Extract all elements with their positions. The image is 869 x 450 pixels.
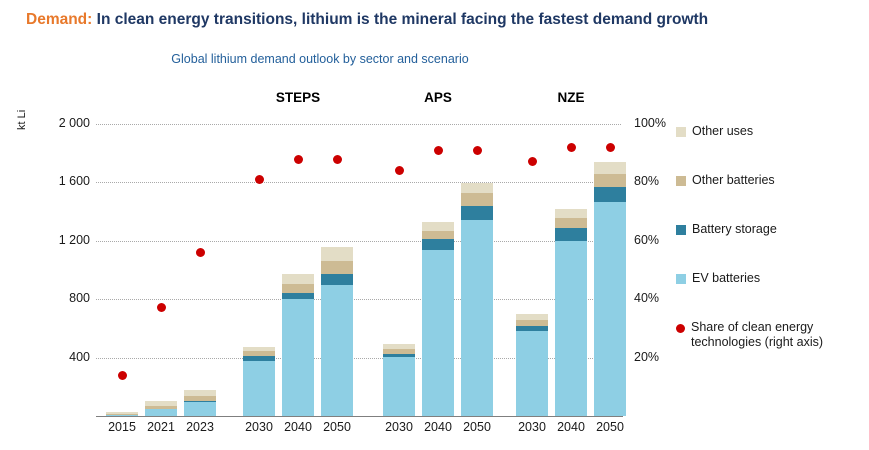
- x-axis-tick-label: 2015: [100, 420, 144, 434]
- x-axis-line: [96, 416, 623, 417]
- x-axis-tick-label: 2030: [237, 420, 281, 434]
- x-axis-tick-label: 2040: [416, 420, 460, 434]
- bar-segment-ev-batteries: [184, 402, 216, 416]
- bar-segment-other-uses: [321, 247, 353, 261]
- legend-item[interactable]: Other uses: [676, 124, 866, 139]
- bar-segment-other-uses: [461, 183, 493, 193]
- gridline: [96, 241, 621, 242]
- share-marker-nze-2040: [567, 143, 576, 152]
- legend-label: Battery storage: [692, 222, 777, 237]
- share-marker-steps-2050: [333, 155, 342, 164]
- legend-swatch-icon: [676, 127, 686, 137]
- legend-label: Other uses: [692, 124, 753, 139]
- chart-subtitle: Global lithium demand outlook by sector …: [0, 52, 640, 66]
- x-axis-tick-label: 2021: [139, 420, 183, 434]
- bar-segment-battery-storage: [321, 274, 353, 285]
- chart-legend: Other usesOther batteriesBattery storage…: [676, 124, 866, 384]
- bar-segment-ev-batteries: [461, 220, 493, 416]
- bar-historical-2023[interactable]: [184, 390, 216, 416]
- bar-segment-battery-storage: [461, 206, 493, 221]
- bar-segment-other-batteries: [321, 261, 353, 273]
- y-axis-tick-label: 2 000: [34, 116, 90, 130]
- scenario-label-nze: NZE: [526, 90, 616, 105]
- bar-segment-ev-batteries: [243, 361, 275, 416]
- bar-segment-other-uses: [555, 209, 587, 218]
- y-axis-left: 2 0001 6001 200800400: [26, 124, 90, 416]
- bar-segment-other-batteries: [422, 231, 454, 240]
- plot-area: [96, 124, 621, 416]
- bar-segment-other-uses: [282, 274, 314, 283]
- bar-segment-other-batteries: [555, 218, 587, 227]
- bar-segment-ev-batteries: [555, 241, 587, 416]
- legend-item[interactable]: Battery storage: [676, 222, 866, 237]
- share-marker-steps-2040: [294, 155, 303, 164]
- legend-swatch-icon: [676, 225, 686, 235]
- bar-segment-ev-batteries: [516, 331, 548, 416]
- legend-swatch-icon: [676, 274, 686, 284]
- y-axis-tick-label: 1 200: [34, 233, 90, 247]
- x-axis-tick-label: 2050: [455, 420, 499, 434]
- share-marker-nze-2030: [528, 157, 537, 166]
- scenario-label-steps: STEPS: [253, 90, 343, 105]
- bar-segment-ev-batteries: [594, 202, 626, 416]
- headline-keyword: Demand:: [26, 11, 92, 28]
- legend-label: EV batteries: [692, 271, 760, 286]
- bar-segment-battery-storage: [594, 187, 626, 202]
- bar-aps-2040[interactable]: [422, 222, 454, 416]
- bar-segment-ev-batteries: [282, 299, 314, 416]
- share-marker-aps-2050: [473, 146, 482, 155]
- bar-segment-battery-storage: [422, 239, 454, 249]
- bar-steps-2030[interactable]: [243, 347, 275, 416]
- page-title: Demand: In clean energy transitions, lit…: [26, 10, 846, 30]
- legend-label: Other batteries: [692, 173, 775, 188]
- x-axis-tick-label: 2030: [510, 420, 554, 434]
- bar-steps-2040[interactable]: [282, 274, 314, 416]
- bar-segment-other-uses: [594, 162, 626, 174]
- legend-dot-icon: [676, 324, 685, 333]
- bar-nze-2040[interactable]: [555, 209, 587, 416]
- x-axis-tick-label: 2040: [276, 420, 320, 434]
- bar-segment-other-batteries: [594, 174, 626, 187]
- y-axis-tick-label: 1 600: [34, 174, 90, 188]
- bar-segment-ev-batteries: [383, 357, 415, 416]
- x-axis-tick-label: 2023: [178, 420, 222, 434]
- y-axis-tick-label: 800: [34, 291, 90, 305]
- share-marker-historical-2023: [196, 248, 205, 257]
- bar-aps-2050[interactable]: [461, 183, 493, 416]
- share-marker-historical-2021: [157, 303, 166, 312]
- legend-item[interactable]: Share of clean energy technologies (righ…: [676, 320, 866, 350]
- bar-nze-2030[interactable]: [516, 314, 548, 416]
- bar-segment-other-uses: [422, 222, 454, 231]
- bar-aps-2030[interactable]: [383, 344, 415, 416]
- share-marker-steps-2030: [255, 175, 264, 184]
- legend-label: Share of clean energy technologies (righ…: [691, 320, 851, 350]
- share-marker-nze-2050: [606, 143, 615, 152]
- legend-swatch-icon: [676, 176, 686, 186]
- legend-item[interactable]: EV batteries: [676, 271, 866, 286]
- headline-text: In clean energy transitions, lithium is …: [92, 11, 708, 28]
- gridline: [96, 299, 621, 300]
- share-marker-aps-2030: [395, 166, 404, 175]
- bar-segment-battery-storage: [555, 228, 587, 241]
- bar-segment-other-batteries: [282, 284, 314, 293]
- bar-steps-2050[interactable]: [321, 247, 353, 416]
- bar-segment-ev-batteries: [321, 285, 353, 416]
- legend-item[interactable]: Other batteries: [676, 173, 866, 188]
- gridline: [96, 182, 621, 183]
- y-axis-tick-label: 400: [34, 350, 90, 364]
- x-axis-tick-label: 2030: [377, 420, 421, 434]
- bar-segment-ev-batteries: [422, 250, 454, 416]
- bar-historical-2021[interactable]: [145, 401, 177, 416]
- bar-segment-other-batteries: [461, 193, 493, 205]
- bar-nze-2050[interactable]: [594, 162, 626, 416]
- x-axis-tick-label: 2050: [315, 420, 359, 434]
- scenario-label-aps: APS: [393, 90, 483, 105]
- share-marker-aps-2040: [434, 146, 443, 155]
- x-axis-tick-label: 2040: [549, 420, 593, 434]
- gridline: [96, 124, 621, 125]
- share-marker-historical-2015: [118, 371, 127, 380]
- x-axis-tick-label: 2050: [588, 420, 632, 434]
